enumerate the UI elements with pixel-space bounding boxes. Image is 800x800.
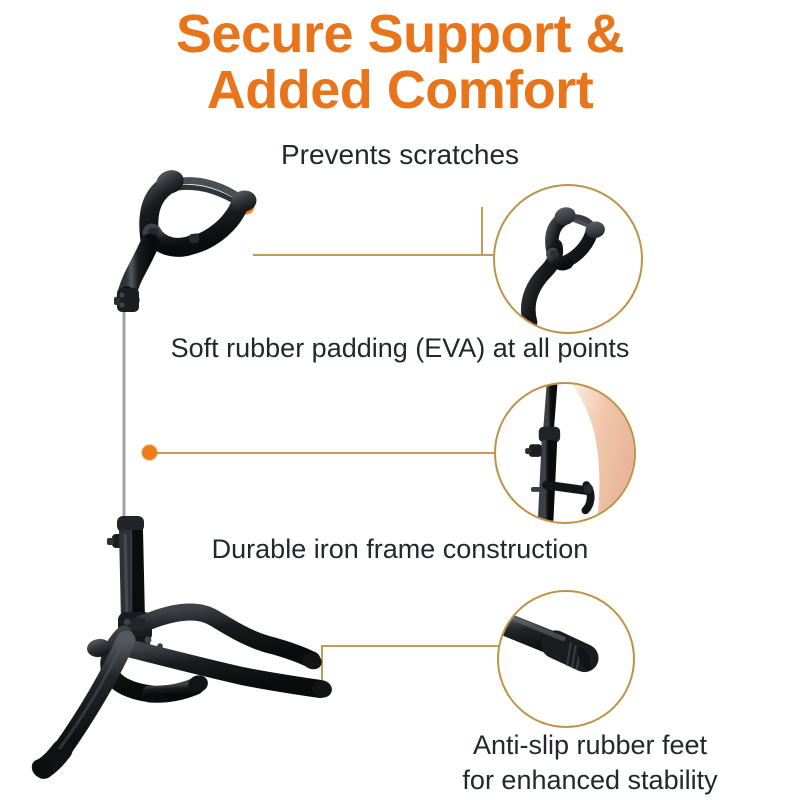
guitar-stand-illustration <box>0 0 800 800</box>
lower-pole <box>125 530 133 620</box>
leg-rear-long <box>28 640 126 783</box>
neck-yoke <box>148 166 258 247</box>
main-pole <box>124 308 130 522</box>
infographic-canvas: Secure Support & Added Comfort Prevents … <box>0 0 800 800</box>
